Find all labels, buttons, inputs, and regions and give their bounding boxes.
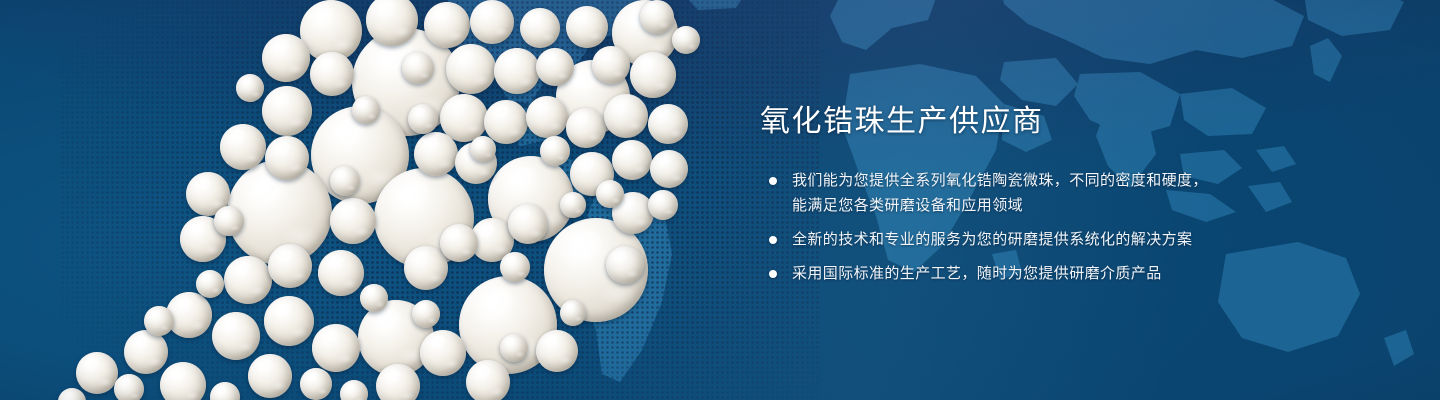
list-item: 我们能为您提供全系列氧化锆陶瓷微珠，不同的密度和硬度， 能满足您各类研磨设备和应… — [760, 168, 1400, 218]
page-title: 氧化锆珠生产供应商 — [760, 104, 1400, 140]
list-item-line-1: 我们能为您提供全系列氧化锆陶瓷微珠，不同的密度和硬度， — [792, 172, 1208, 189]
bullet-dot-icon — [769, 270, 777, 278]
bullet-dot-icon — [769, 236, 777, 244]
list-item-line-2: 能满足您各类研磨设备和应用领域 — [792, 193, 1400, 218]
list-item-line-1: 全新的技术和专业的服务为您的研磨提供系统化的解决方案 — [792, 231, 1192, 248]
bullet-dot-icon — [769, 177, 777, 185]
list-item: 采用国际标准的生产工艺，随时为您提供研磨介质产品 — [760, 261, 1400, 286]
feature-list: 我们能为您提供全系列氧化锆陶瓷微珠，不同的密度和硬度， 能满足您各类研磨设备和应… — [760, 168, 1400, 286]
hero-banner: 氧化锆珠生产供应商 我们能为您提供全系列氧化锆陶瓷微珠，不同的密度和硬度， 能满… — [0, 0, 1440, 400]
banner-content: 氧化锆珠生产供应商 我们能为您提供全系列氧化锆陶瓷微珠，不同的密度和硬度， 能满… — [760, 104, 1400, 286]
list-item-line-1: 采用国际标准的生产工艺，随时为您提供研磨介质产品 — [792, 265, 1162, 282]
list-item: 全新的技术和专业的服务为您的研磨提供系统化的解决方案 — [760, 227, 1400, 252]
